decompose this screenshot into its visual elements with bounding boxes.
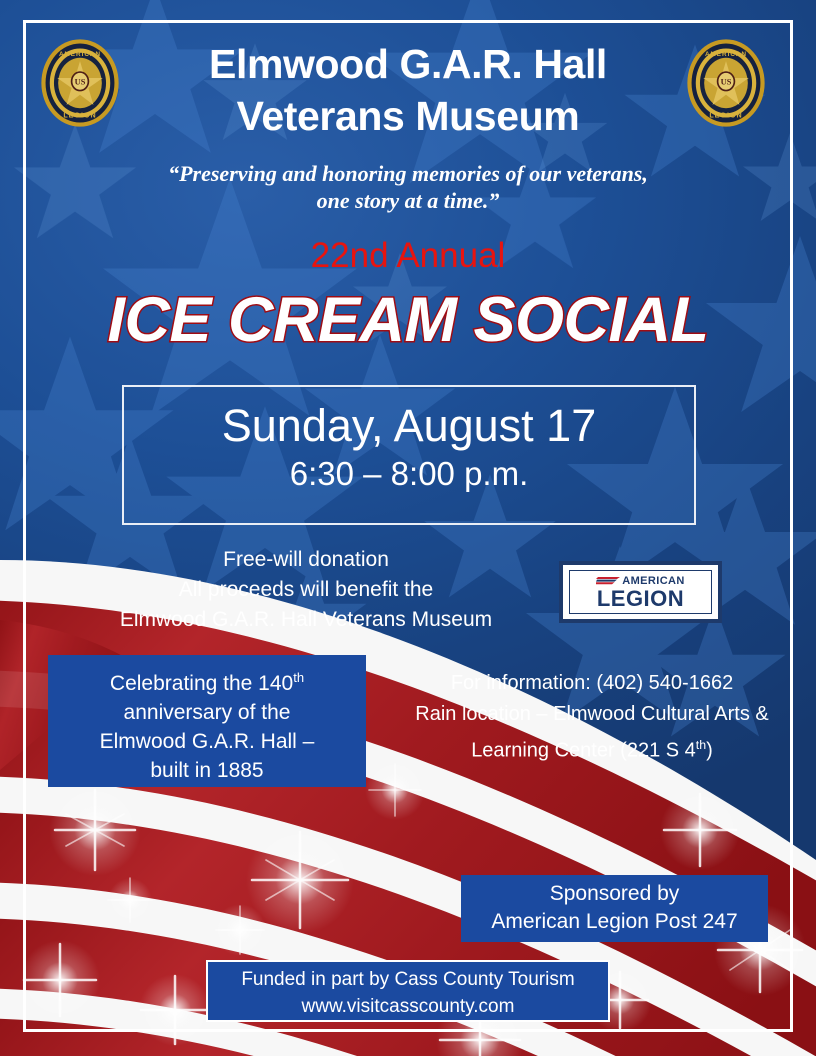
donation-line-2: All proceeds will benefit the xyxy=(96,575,516,605)
anniversary-ordinal-suffix: th xyxy=(293,670,304,685)
event-headline: ICE CREAM SOCIAL xyxy=(8,286,808,354)
funding-website[interactable]: www.visitcasscounty.com xyxy=(208,993,608,1020)
sponsor-box: Sponsored by American Legion Post 247 xyxy=(461,875,768,942)
svg-text:US: US xyxy=(721,78,732,87)
tagline-line-2: one story at a time.” xyxy=(120,187,696,214)
event-time: 6:30 – 8:00 p.m. xyxy=(124,455,694,493)
anniversary-box: Celebrating the 140th anniversary of the… xyxy=(48,655,366,787)
anniversary-line-1: Celebrating the 140th xyxy=(48,663,366,698)
donation-info: Free-will donation All proceeds will ben… xyxy=(96,545,516,635)
date-time-box: Sunday, August 17 6:30 – 8:00 p.m. xyxy=(122,385,696,525)
annual-label: 22nd Annual xyxy=(108,237,708,275)
rain-location-close-paren: ) xyxy=(706,740,713,762)
american-legion-logo-inner: AMERICAN LEGION xyxy=(569,570,712,614)
donation-line-3: Elmwood G.A.R. Hall Veterans Museum xyxy=(96,605,516,635)
rain-location-ordinal-suffix: th xyxy=(696,738,706,752)
rain-location-line-1: Rain location – Elmwood Cultural Arts & xyxy=(398,699,786,730)
sponsor-line-1: Sponsored by xyxy=(461,880,768,908)
american-legion-logo-word-bottom: LEGION xyxy=(597,587,684,611)
anniversary-line-2: anniversary of the xyxy=(48,698,366,727)
emblem-center-text: US xyxy=(75,78,86,87)
sponsor-line-2: American Legion Post 247 xyxy=(461,908,768,936)
tagline-line-1: “Preserving and honoring memories of our… xyxy=(120,160,696,187)
emblem-top-text: AMERICAN xyxy=(59,51,101,58)
museum-title-line-1: Elmwood G.A.R. Hall xyxy=(110,38,706,90)
anniversary-line-4: built in 1885 xyxy=(48,756,366,785)
rain-location-line-2: Learning Center (221 S 4th) xyxy=(398,730,786,767)
anniversary-line-3: Elmwood G.A.R. Hall – xyxy=(48,727,366,756)
museum-tagline: “Preserving and honoring memories of our… xyxy=(120,160,696,214)
anniversary-line-1-text: Celebrating the 140 xyxy=(110,672,293,695)
contact-phone-line: For information: (402) 540-1662 xyxy=(398,668,786,699)
flyer-page: US AMERICAN LEGION US AMERICAN LEGION El… xyxy=(0,0,816,1056)
funding-line-1: Funded in part by Cass County Tourism xyxy=(208,966,608,993)
donation-line-1: Free-will donation xyxy=(96,545,516,575)
rain-location-address-text: Learning Center (221 S 4 xyxy=(471,740,696,762)
svg-text:LEGION: LEGION xyxy=(709,111,742,119)
event-date: Sunday, August 17 xyxy=(124,400,694,452)
emblem-bottom-text: LEGION xyxy=(63,111,96,119)
svg-text:AMERICAN: AMERICAN xyxy=(705,51,747,58)
museum-title: Elmwood G.A.R. Hall Veterans Museum xyxy=(110,38,706,142)
american-legion-logo: AMERICAN LEGION xyxy=(559,561,722,623)
funding-box: Funded in part by Cass County Tourism ww… xyxy=(206,960,610,1022)
contact-info: For information: (402) 540-1662 Rain loc… xyxy=(398,668,786,767)
museum-title-line-2: Veterans Museum xyxy=(110,90,706,142)
